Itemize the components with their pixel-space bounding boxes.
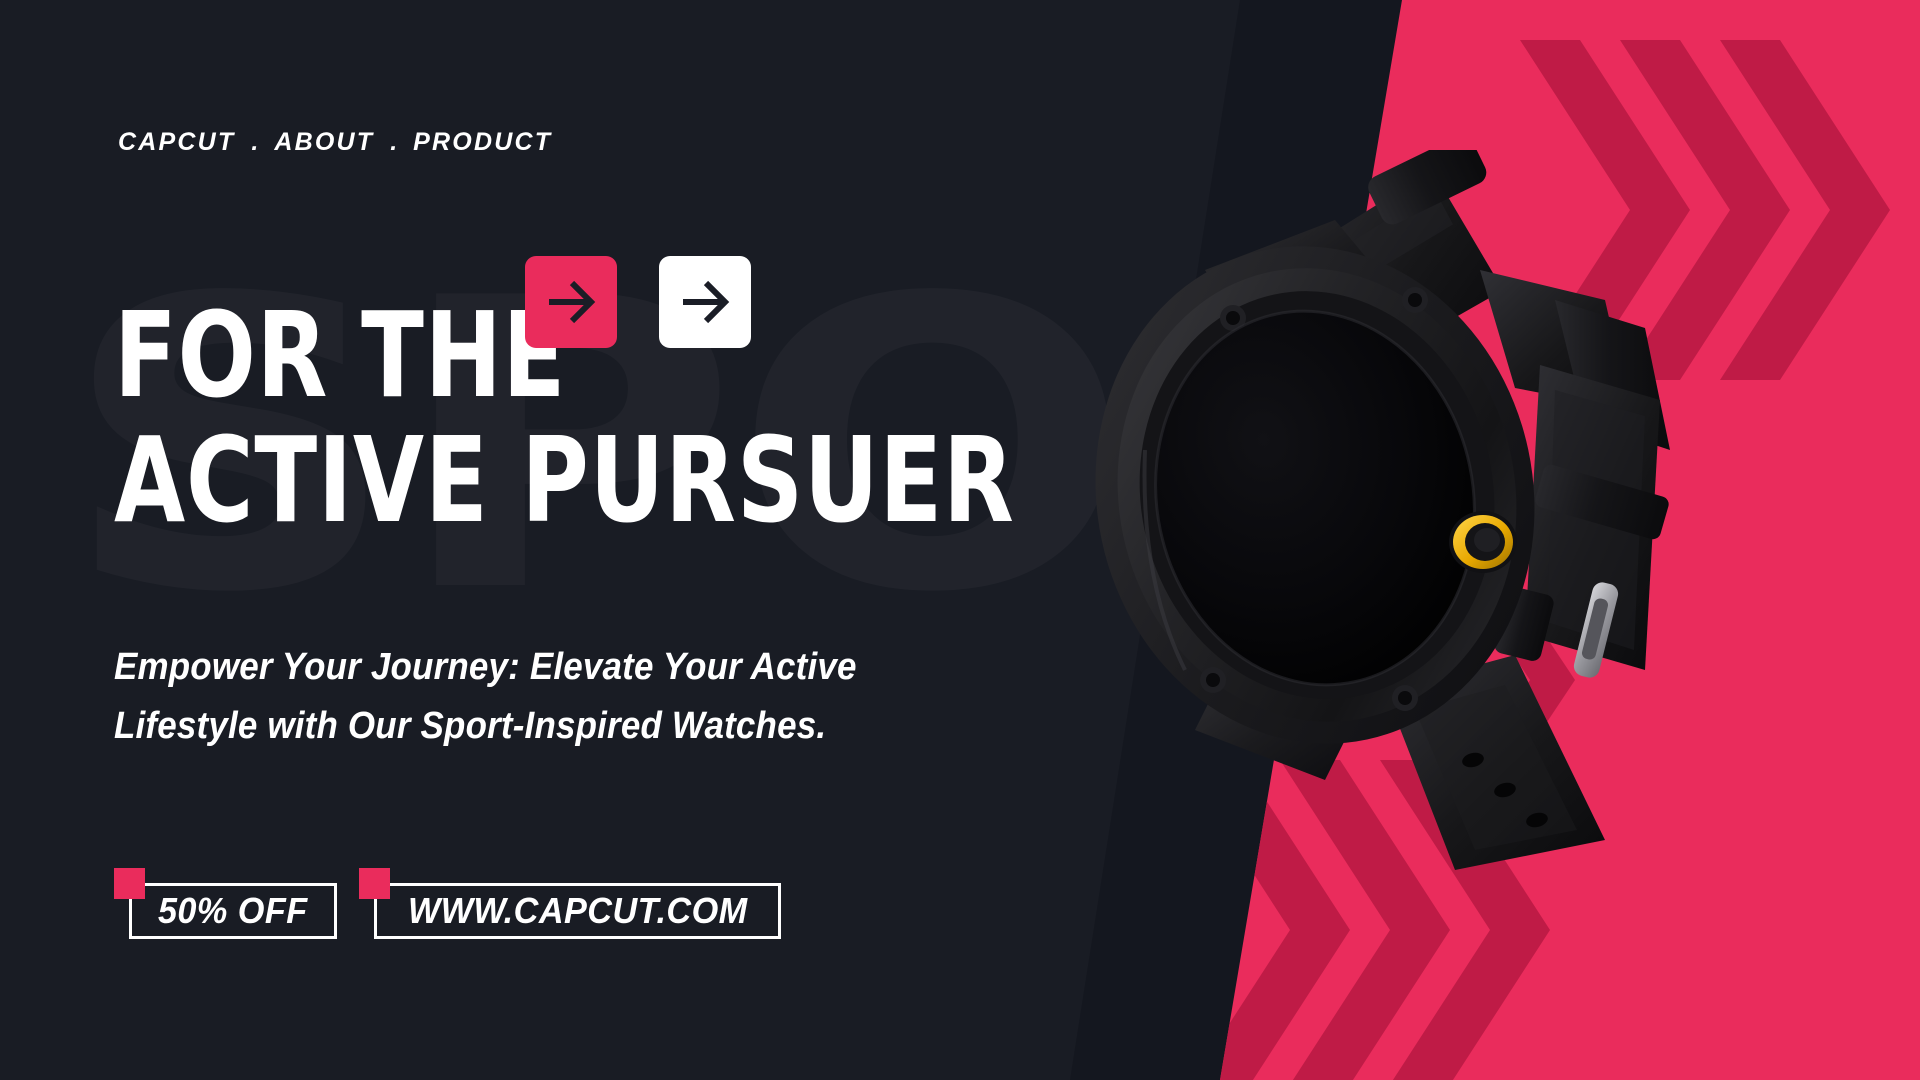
top-navigation: CAPCUT . ABOUT . PRODUCT (118, 128, 552, 157)
website-badge[interactable]: WWW.CAPCUT.COM (359, 868, 782, 939)
nav-item-about[interactable]: ABOUT (274, 128, 374, 157)
headline-line-2-row: ACTIVE PURSUER (114, 425, 1269, 536)
primary-arrow-button[interactable] (525, 256, 617, 348)
nav-separator: . (235, 128, 274, 157)
hero-subtitle: Empower Your Journey: Elevate Your Activ… (114, 638, 857, 756)
badge-corner-square (114, 868, 145, 899)
arrow-right-icon (544, 275, 598, 329)
secondary-arrow-button[interactable] (659, 256, 751, 348)
subtitle-line-2: Lifestyle with Our Sport-Inspired Watche… (114, 697, 857, 756)
bottom-badges: 50% OFF WWW.CAPCUT.COM (114, 868, 781, 939)
badge-corner-square (359, 868, 390, 899)
crown-button (1449, 511, 1517, 573)
subtitle-line-1: Empower Your Journey: Elevate Your Activ… (114, 638, 857, 697)
discount-badge-label: 50% OFF (158, 890, 308, 932)
discount-badge[interactable]: 50% OFF (114, 868, 337, 939)
arrow-right-icon (678, 275, 732, 329)
website-badge-label: WWW.CAPCUT.COM (407, 890, 747, 932)
discount-badge-box[interactable]: 50% OFF (129, 883, 337, 939)
website-badge-box[interactable]: WWW.CAPCUT.COM (374, 883, 782, 939)
headline-line-1: FOR THE (114, 300, 566, 411)
headline-line-2: ACTIVE PURSUER (114, 425, 1015, 536)
nav-item-capcut[interactable]: CAPCUT (118, 128, 235, 157)
banner-stage: SPO CAPCUT . ABOUT . PRODUCT FOR THE ACT… (0, 0, 1920, 1080)
cta-arrow-buttons (525, 256, 751, 348)
nav-separator: . (374, 128, 413, 157)
nav-item-product[interactable]: PRODUCT (413, 128, 552, 157)
